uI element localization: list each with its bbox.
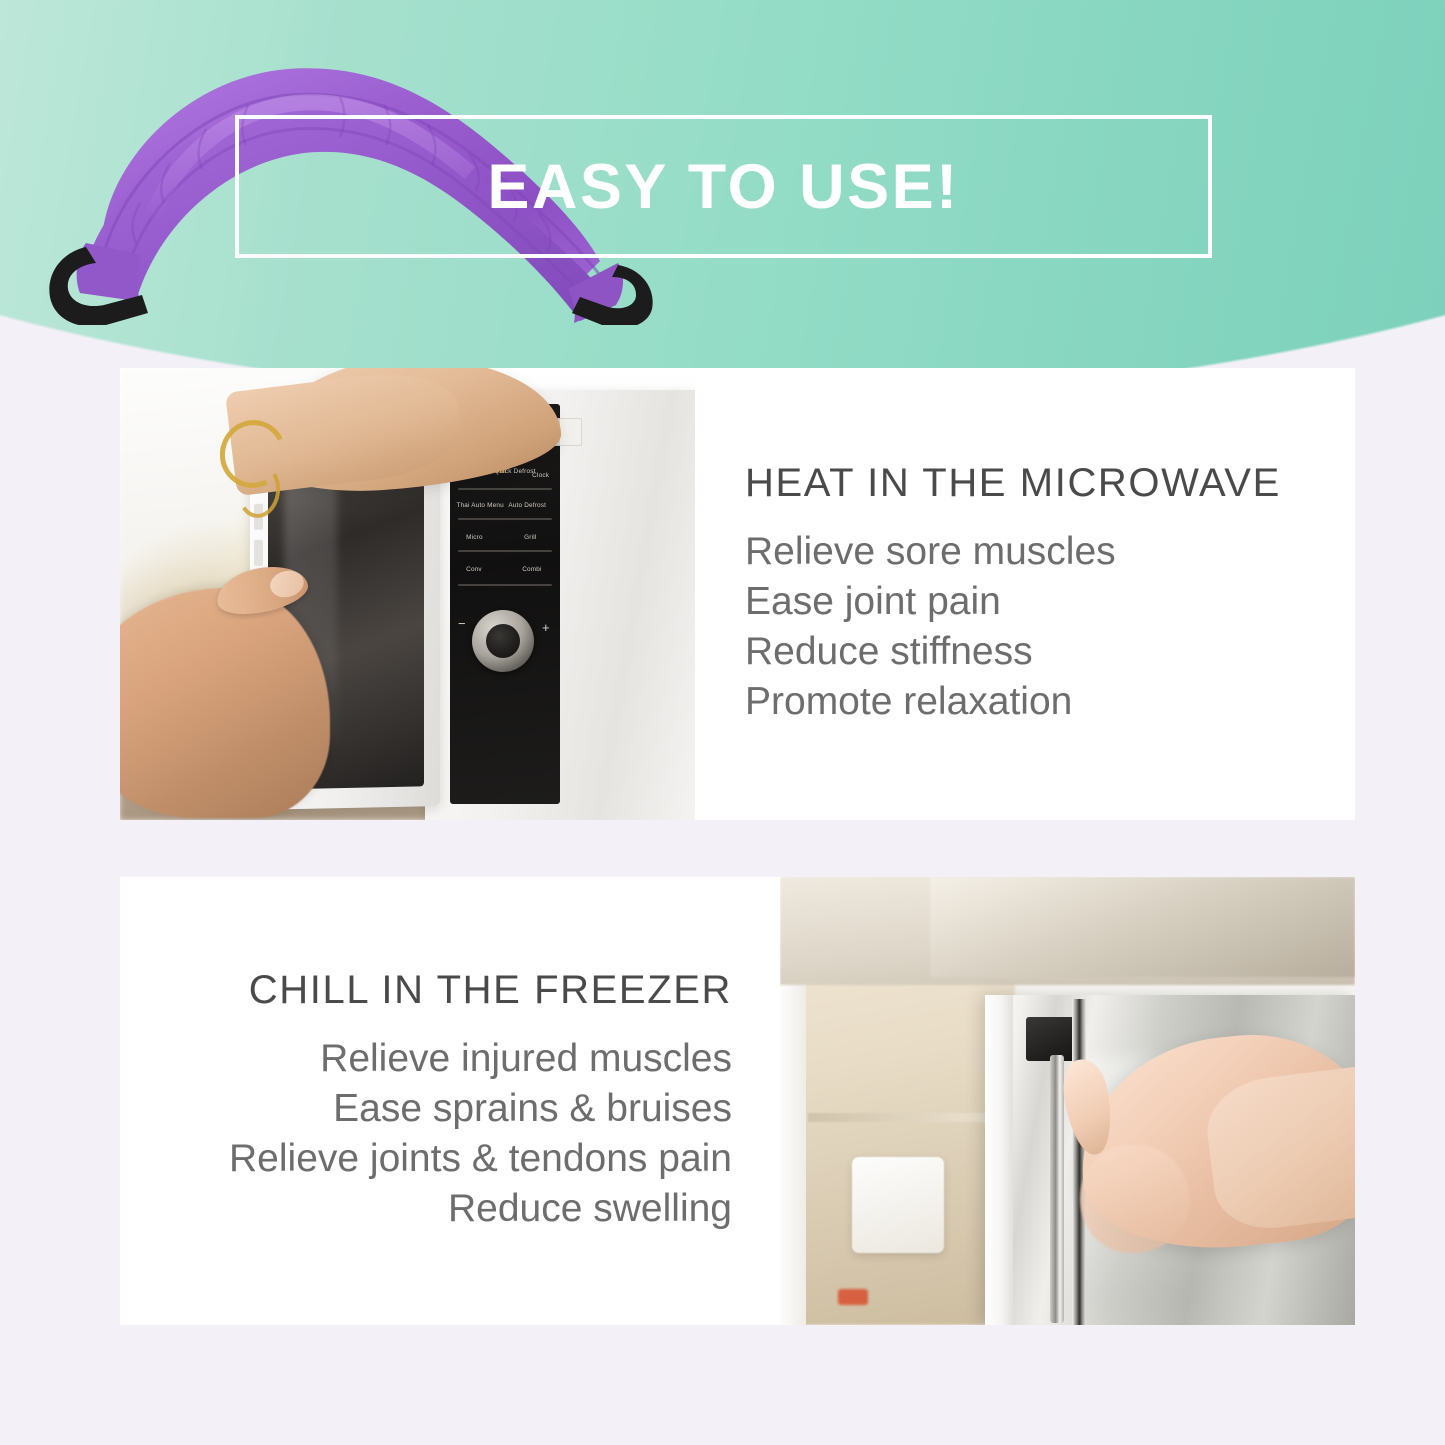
panel-button-thai-auto-menu[interactable]: Thai Auto Menu [456,502,503,509]
panel-increment-label[interactable]: + [542,620,550,635]
benefit-item: Relieve joints & tendons pain [229,1134,732,1184]
panel-decrement-label[interactable]: − [458,616,466,631]
freezer-scene [780,877,1355,1325]
benefit-list-microwave: Relieve sore muscles Ease joint pain Red… [745,527,1116,727]
panel-button-combi[interactable]: Combi [522,566,541,573]
text-block-microwave: HEAT IN THE MICROWAVE Relieve sore muscl… [695,368,1355,820]
panel-button-micro[interactable]: Micro [466,534,483,541]
benefit-list-freezer: Relieve injured muscles Ease sprains & b… [229,1034,732,1234]
panel-button-grill[interactable]: Grill [524,534,536,541]
card-microwave: 0 Crispy Refresh Quick Defrost Clock Tha… [120,368,1355,820]
fridge-shelf [808,1113,1008,1122]
panel-button-clock[interactable]: Clock [532,472,549,479]
fridge-item-red [838,1289,868,1305]
upper-cabinet-panel [930,877,1355,977]
infographic-canvas: EASY TO USE! [0,0,1445,1445]
section-heading-freezer: CHILL IN THE FREEZER [249,968,732,1012]
benefit-item: Ease sprains & bruises [229,1084,732,1134]
benefit-item: Reduce swelling [229,1184,732,1234]
microwave-scene: 0 Crispy Refresh Quick Defrost Clock Tha… [120,368,695,820]
panel-button-auto-defrost[interactable]: Auto Defrost [508,502,546,509]
benefit-item: Relieve sore muscles [745,527,1116,577]
fridge-container [852,1157,944,1253]
benefit-item: Relieve injured muscles [229,1034,732,1084]
knuckles [1080,1145,1190,1253]
benefit-item: Promote relaxation [745,677,1116,727]
card-freezer: CHILL IN THE FREEZER Relieve injured mus… [120,877,1355,1325]
lower-hand [120,588,330,818]
text-block-freezer: CHILL IN THE FREEZER Relieve injured mus… [120,877,780,1325]
photo-freezer [780,877,1355,1325]
photo-microwave: 0 Crispy Refresh Quick Defrost Clock Tha… [120,368,695,820]
benefit-item: Ease joint pain [745,577,1116,627]
panel-rotary-dial[interactable] [472,610,534,672]
panel-button-conv[interactable]: Conv [466,566,482,573]
benefit-item: Reduce stiffness [745,627,1116,677]
fridge-handle-bar[interactable] [1050,1055,1064,1323]
section-heading-microwave: HEAT IN THE MICROWAVE [745,461,1281,505]
fridge-door-edge [985,995,1013,1325]
page-title: EASY TO USE! [235,115,1212,258]
